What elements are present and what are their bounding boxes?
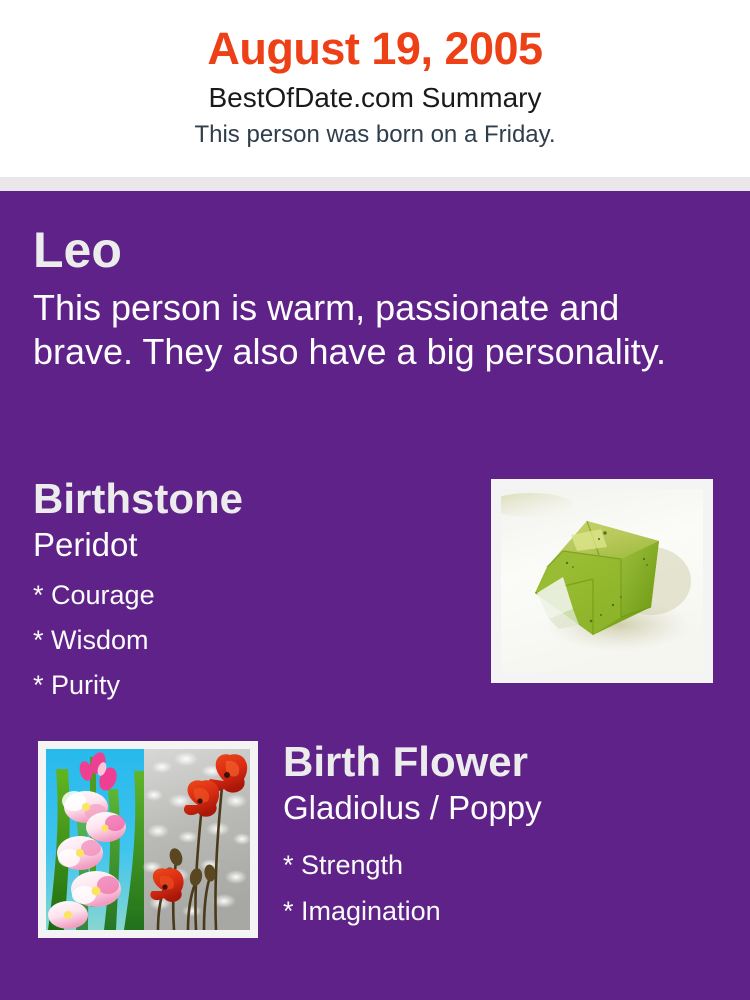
header: August 19, 2005 BestOfDate.com Summary T… xyxy=(0,0,750,177)
list-item: * Wisdom xyxy=(33,618,463,663)
birth-flower-photo-frame xyxy=(38,741,258,938)
peridot-gemstone-photo xyxy=(501,489,703,673)
birthstone-title: Birthstone xyxy=(33,475,463,523)
birth-flower-section: Birth Flower Gladiolus / Poppy * Strengt… xyxy=(283,738,733,934)
list-item: * Strength xyxy=(283,842,733,888)
list-item: * Purity xyxy=(33,663,463,708)
gladiolus-poppy-photo xyxy=(46,749,250,930)
summary-card: August 19, 2005 BestOfDate.com Summary T… xyxy=(0,0,750,1000)
site-summary-label: BestOfDate.com Summary xyxy=(0,76,750,115)
list-item: * Courage xyxy=(33,573,463,618)
birthstone-photo-frame xyxy=(491,479,713,683)
birthstone-section: Birthstone Peridot * Courage * Wisdom * … xyxy=(33,475,463,708)
birth-flower-title: Birth Flower xyxy=(283,738,733,786)
zodiac-description: This person is warm, passionate and brav… xyxy=(33,278,683,374)
zodiac-section: Leo This person is warm, passionate and … xyxy=(33,222,693,374)
header-divider xyxy=(0,177,750,191)
born-day-note: This person was born on a Friday. xyxy=(0,115,750,150)
birth-flower-name: Gladiolus / Poppy xyxy=(283,786,733,828)
birthstone-name: Peridot xyxy=(33,523,463,565)
birth-flower-trait-list: * Strength * Imagination xyxy=(283,828,733,934)
birthstone-trait-list: * Courage * Wisdom * Purity xyxy=(33,565,463,708)
list-item: * Imagination xyxy=(283,888,733,934)
zodiac-sign-name: Leo xyxy=(33,222,693,278)
page-title-date: August 19, 2005 xyxy=(0,0,750,76)
